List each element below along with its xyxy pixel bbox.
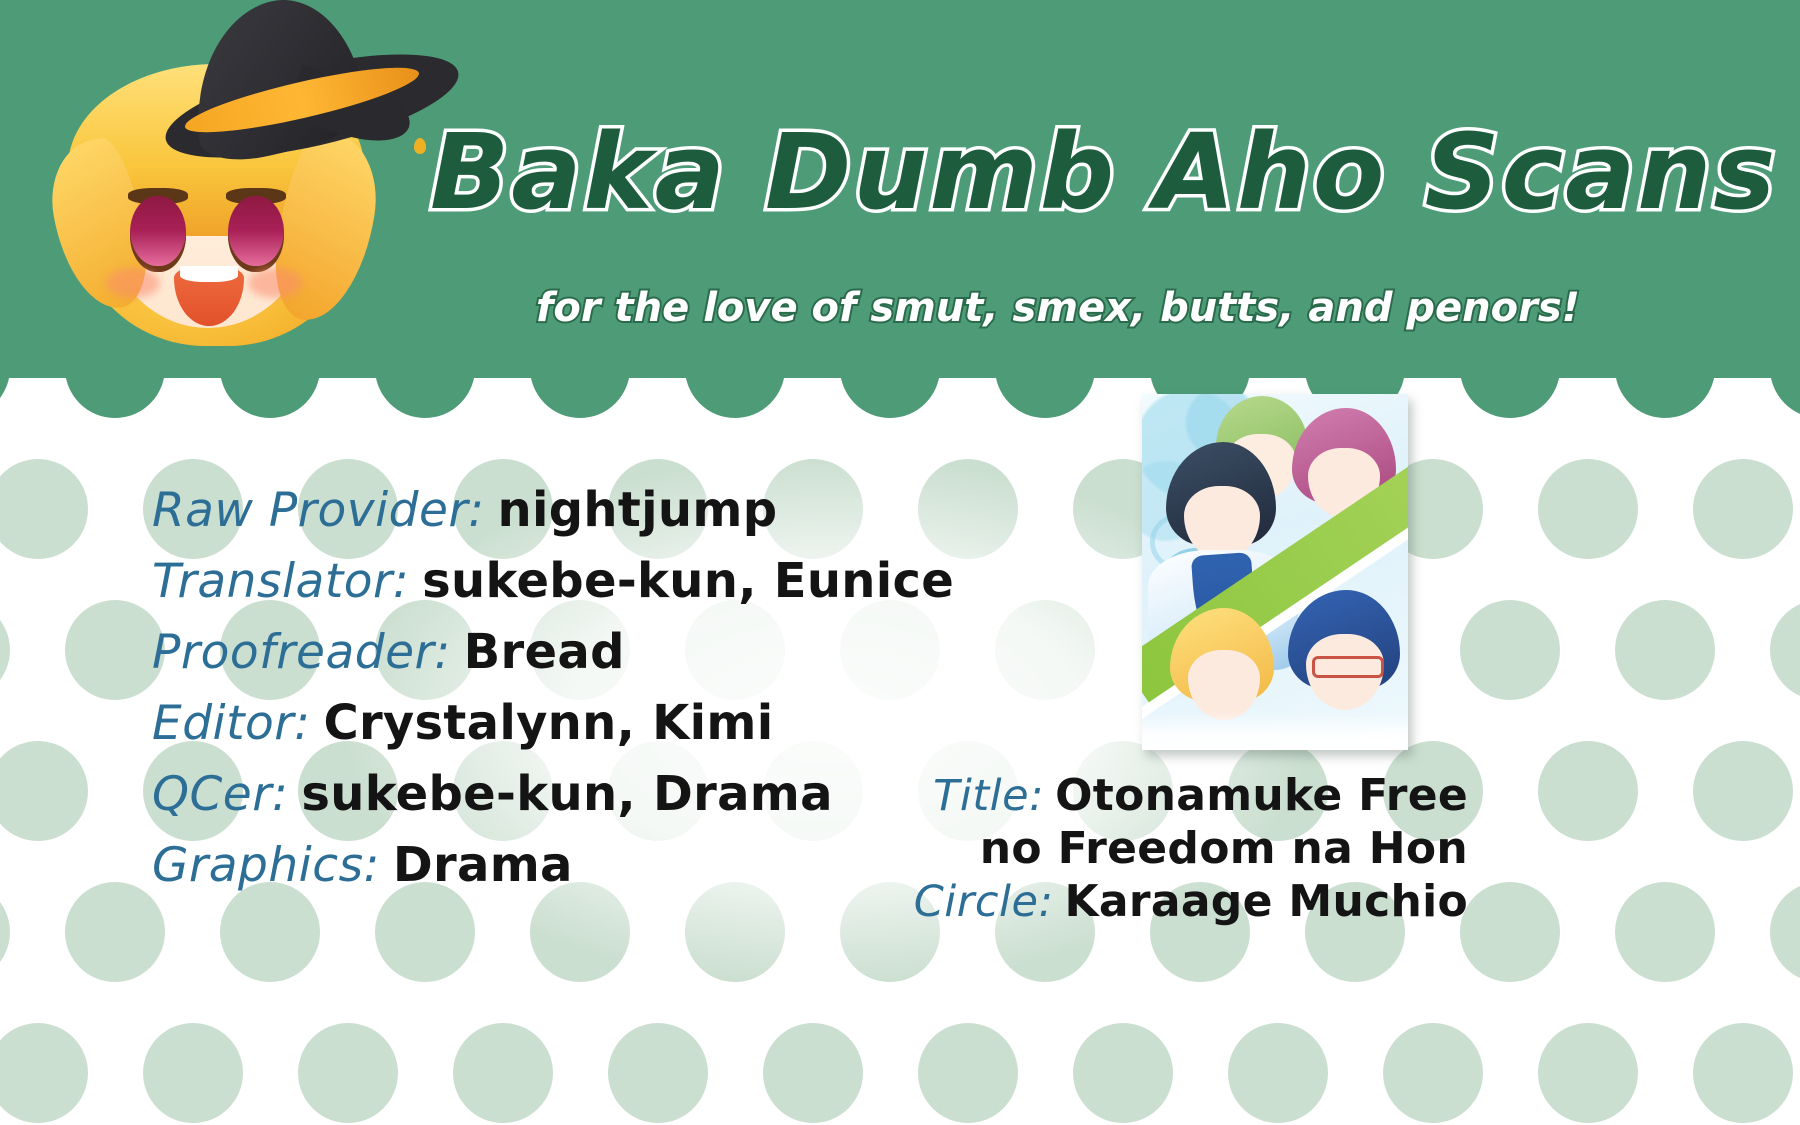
background-dot: [1073, 1023, 1173, 1123]
credit-role-label: Raw Provider:: [152, 480, 485, 543]
background-dot: [1615, 600, 1715, 700]
credit-row: Proofreader:Bread: [152, 620, 954, 685]
work-circle-label: Circle:: [914, 877, 1054, 927]
credit-person-value: nightjump: [498, 478, 778, 542]
credit-row: Raw Provider:nightjump: [152, 478, 954, 543]
background-dot: [453, 1023, 553, 1123]
work-info-block: Title:Otonamuke Free no Freedom na Hon C…: [914, 770, 1468, 929]
background-dot: [0, 378, 10, 418]
mascot-chibi-witch-icon: [42, 20, 422, 360]
credit-role-label: Editor:: [152, 693, 310, 756]
credits-body: Raw Provider:nightjumpTranslator:sukebe-…: [0, 378, 1800, 1125]
work-circle-line: Circle:Karaage Muchio: [914, 876, 1468, 927]
glasses-icon: [1312, 656, 1384, 678]
background-dot: [1538, 741, 1638, 841]
background-dot: [220, 378, 320, 418]
credit-person-value: Crystalynn, Kimi: [323, 691, 773, 755]
credits-page: Baka Dumb Aho Scans for the love of smut…: [0, 0, 1800, 1125]
background-dot: [1538, 1023, 1638, 1123]
credits-list: Raw Provider:nightjumpTranslator:sukebe-…: [152, 478, 954, 904]
background-dot: [530, 378, 630, 418]
credit-person-value: Bread: [464, 620, 625, 684]
background-dot: [840, 378, 940, 418]
background-dot: [0, 600, 10, 700]
work-title-label: Title:: [933, 771, 1044, 821]
background-dot: [1228, 1023, 1328, 1123]
background-dot: [1770, 600, 1800, 700]
background-dot: [1538, 459, 1638, 559]
background-dot: [1693, 459, 1793, 559]
background-dot: [65, 882, 165, 982]
background-dot: [0, 741, 88, 841]
background-dot: [608, 1023, 708, 1123]
background-dot: [375, 378, 475, 418]
background-dot: [995, 378, 1095, 418]
background-dot: [0, 459, 88, 559]
credit-row: QCer:sukebe-kun, Drama: [152, 762, 954, 827]
credit-row: Editor:Crystalynn, Kimi: [152, 691, 954, 756]
work-title-value-1: Otonamuke Free: [1055, 770, 1468, 821]
background-dot: [143, 1023, 243, 1123]
background-dot: [1383, 1023, 1483, 1123]
doujinshi-cover-thumbnail: [1142, 394, 1408, 750]
site-title: Baka Dumb Aho Scans: [430, 120, 1777, 224]
background-dot: [995, 600, 1095, 700]
work-title-value-2: no Freedom na Hon: [980, 823, 1468, 874]
credit-role-label: Translator:: [152, 551, 409, 614]
site-header-banner: Baka Dumb Aho Scans for the love of smut…: [0, 0, 1800, 378]
credit-person-value: Drama: [393, 833, 573, 897]
background-dot: [0, 882, 10, 982]
background-dot: [1770, 882, 1800, 982]
background-dot: [1615, 882, 1715, 982]
credit-person-value: sukebe-kun, Eunice: [422, 549, 954, 613]
credit-role-label: Graphics:: [152, 835, 380, 898]
background-dot: [0, 1023, 88, 1123]
hat-drop-icon: [414, 138, 426, 154]
credit-role-label: Proofreader:: [152, 622, 451, 685]
background-dot: [1460, 378, 1560, 418]
background-dot: [298, 1023, 398, 1123]
credit-row: Translator:sukebe-kun, Eunice: [152, 549, 954, 614]
site-tagline: for the love of smut, smex, butts, and p…: [536, 288, 1580, 328]
background-dot: [1615, 378, 1715, 418]
background-dot: [1693, 1023, 1793, 1123]
background-dot: [763, 1023, 863, 1123]
work-circle-value: Karaage Muchio: [1064, 876, 1468, 927]
background-dot: [1693, 741, 1793, 841]
background-dot: [65, 378, 165, 418]
credit-person-value: sukebe-kun, Drama: [301, 762, 832, 826]
work-title-line-1: Title:Otonamuke Free: [914, 770, 1468, 821]
credit-row: Graphics:Drama: [152, 833, 954, 898]
background-dot: [65, 600, 165, 700]
work-title-line-2: no Freedom na Hon: [914, 823, 1468, 874]
background-dot: [1460, 882, 1560, 982]
credit-role-label: QCer:: [152, 764, 288, 827]
background-dot: [685, 378, 785, 418]
background-dot: [1460, 600, 1560, 700]
background-dot: [1770, 378, 1800, 418]
background-dot: [918, 1023, 1018, 1123]
